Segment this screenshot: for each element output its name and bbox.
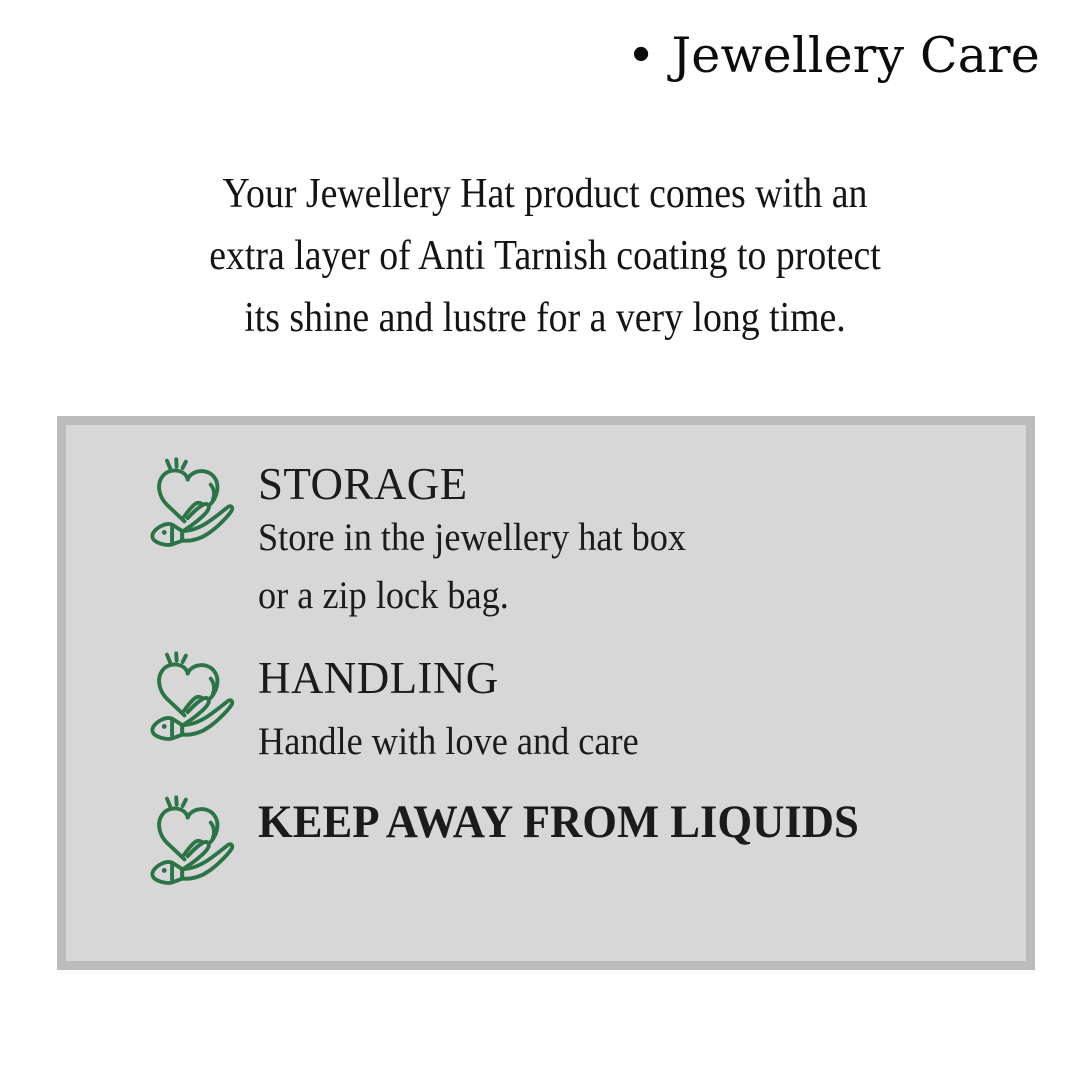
intro-line-3: its shine and lustre for a very long tim… (100, 287, 991, 349)
care-sub-handling: Handle with love and care (258, 713, 954, 771)
care-item-storage: STORAGE Store in the jewellery hat box o… (144, 457, 1006, 625)
care-instructions-list: STORAGE Store in the jewellery hat box o… (66, 425, 1026, 961)
care-heading-keep-away-from-liquids: KEEP AWAY FROM LIQUIDS (258, 797, 969, 847)
hand-holding-heart-icon (144, 457, 236, 549)
care-sub-storage-line-2: or a zip lock bag. (258, 567, 954, 625)
intro-line-2: extra layer of Anti Tarnish coating to p… (100, 225, 991, 287)
care-text-handling: HANDLING Handle with love and care (258, 651, 1006, 771)
page-title: • Jewellery Care (627, 30, 1040, 81)
page-title-row: • Jewellery Care (0, 30, 1040, 81)
care-sub-handling-line-1: Handle with love and care (258, 713, 954, 771)
care-item-handling: HANDLING Handle with love and care (144, 651, 1006, 771)
care-sub-storage: Store in the jewellery hat box or a zip … (258, 509, 954, 625)
care-instructions-card: STORAGE Store in the jewellery hat box o… (57, 416, 1035, 970)
intro-paragraph: Your Jewellery Hat product comes with an… (100, 163, 991, 349)
care-sub-storage-line-1: Store in the jewellery hat box (258, 509, 954, 567)
care-heading-storage: STORAGE (258, 459, 1006, 509)
care-item-keep-away-from-liquids: KEEP AWAY FROM LIQUIDS (144, 795, 1006, 887)
care-text-keep-away-from-liquids: KEEP AWAY FROM LIQUIDS (258, 795, 1006, 847)
hand-holding-heart-icon (144, 795, 236, 887)
care-heading-handling: HANDLING (258, 653, 1006, 703)
intro-line-1: Your Jewellery Hat product comes with an (100, 163, 991, 225)
hand-holding-heart-icon (144, 651, 236, 743)
jewellery-care-page: • Jewellery Care Your Jewellery Hat prod… (0, 0, 1080, 1080)
care-text-storage: STORAGE Store in the jewellery hat box o… (258, 457, 1006, 625)
